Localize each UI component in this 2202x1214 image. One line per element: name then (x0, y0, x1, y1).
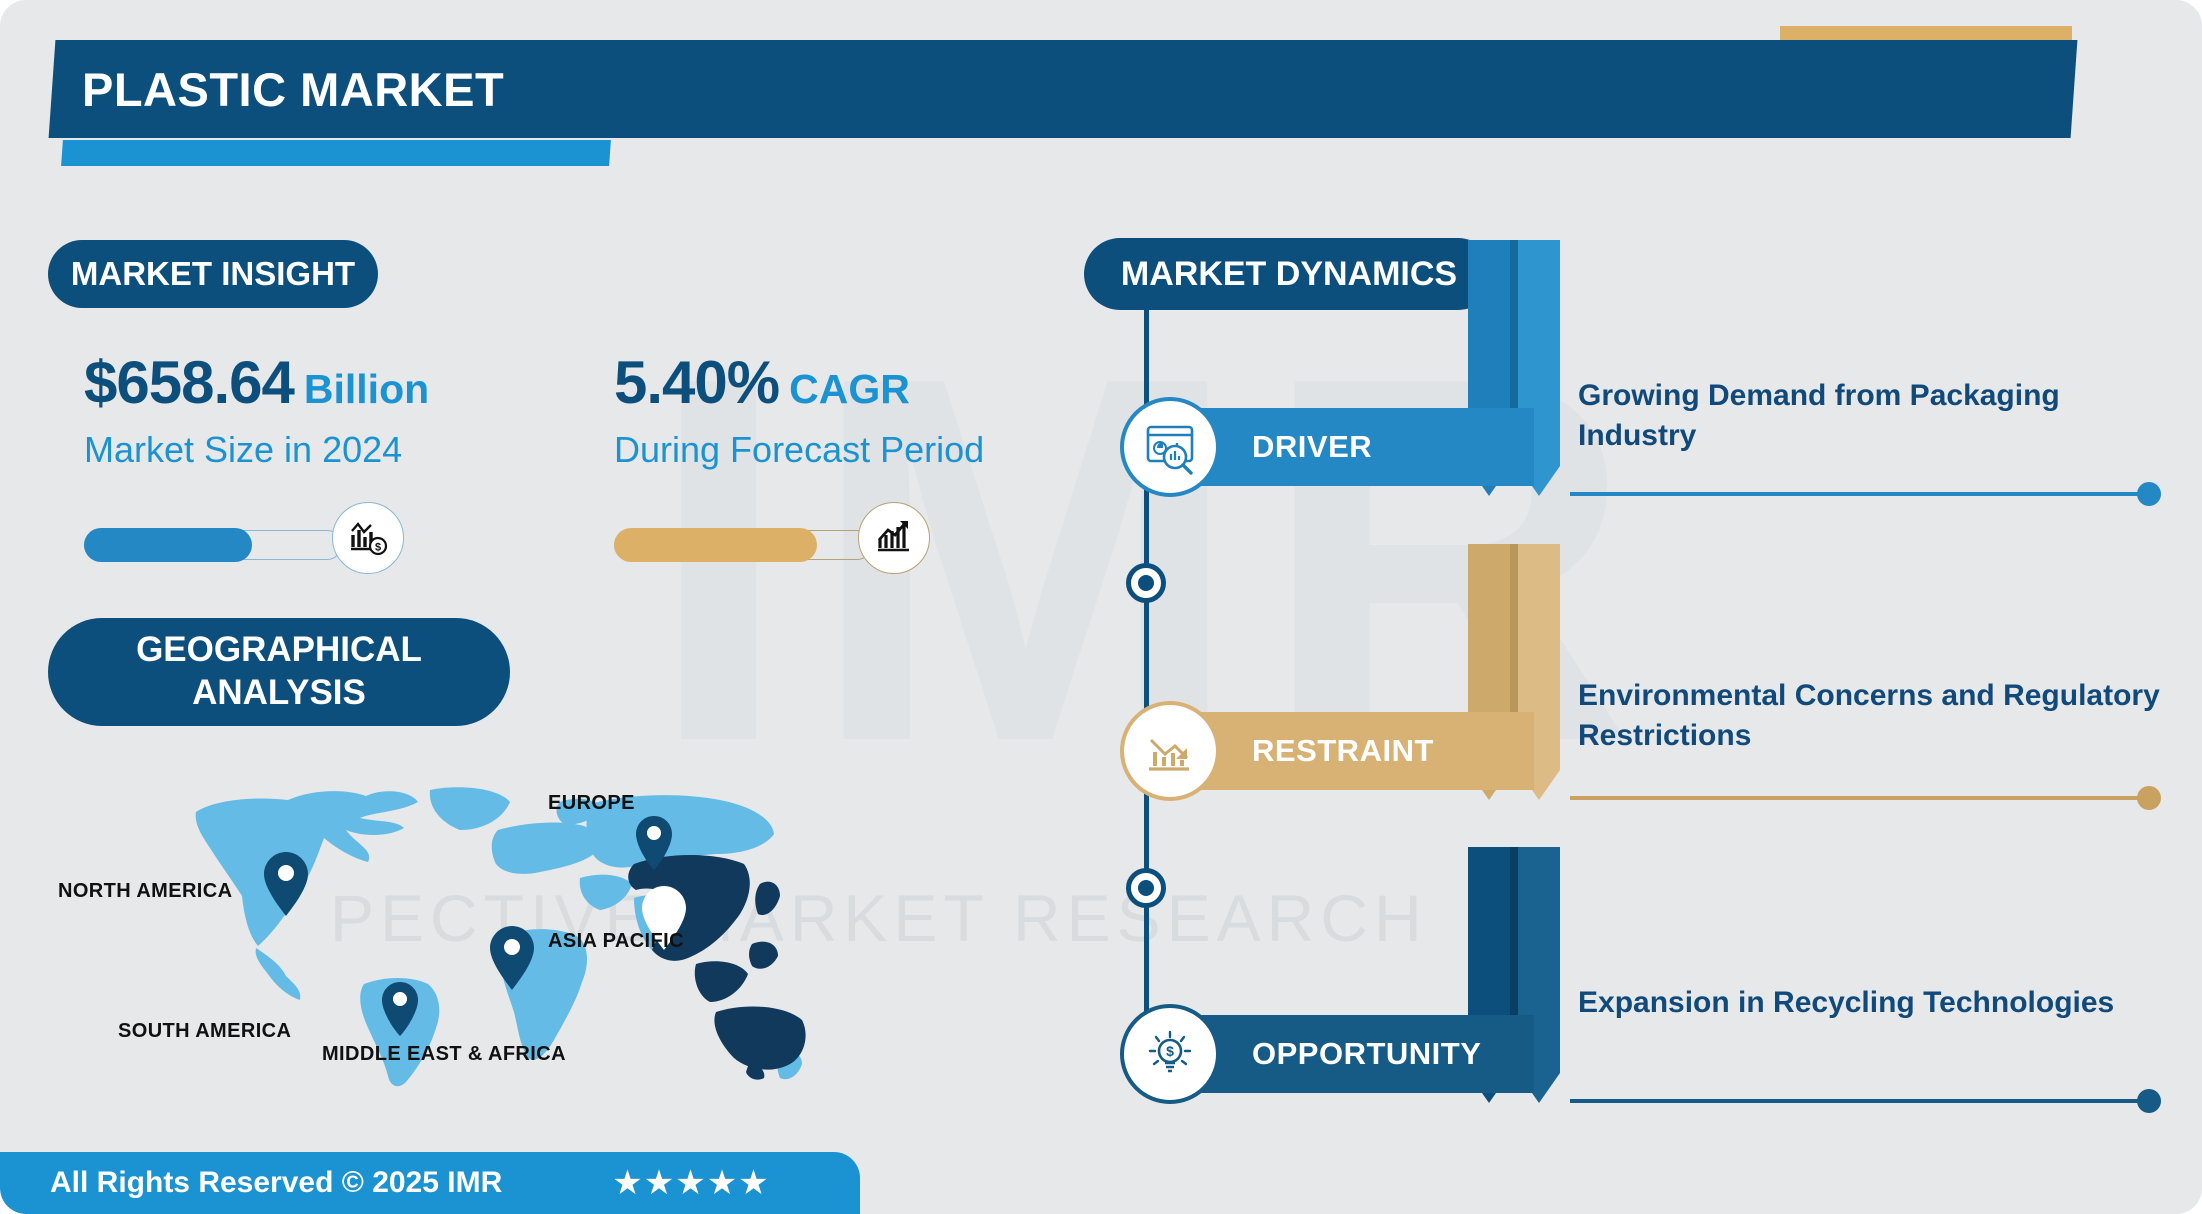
map-label-north-america: NORTH AMERICA (58, 880, 232, 903)
opportunity-connector-line (1570, 1099, 2150, 1103)
progress-fill (84, 528, 252, 562)
metric-market-size: $658.64 Billion Market Size in 2024 (84, 348, 429, 471)
geographical-analysis-pill: GEOGRAPHICAL ANALYSIS (48, 618, 510, 726)
market-size-value: $658.64 (84, 348, 294, 417)
copyright-text: All Rights Reserved © 2025 IMR (50, 1166, 502, 1200)
market-dynamics-pill: MARKET DYNAMICS (1084, 238, 1494, 310)
infographic-canvas: IMR PECTIVE MARKET RESEARCH PLASTIC MARK… (0, 0, 2202, 1214)
footer-bar: All Rights Reserved © 2025 IMR ★★★★★ (0, 1152, 860, 1214)
restraint-text: Environmental Concerns and Regulatory Re… (1578, 676, 2178, 756)
cagr-unit: CAGR (789, 366, 910, 413)
declining-chart-icon (1120, 701, 1220, 801)
svg-text:$: $ (375, 542, 381, 554)
header-underline-accent (61, 140, 611, 166)
dynamics-row-driver: DRIVER Growing Demand from Packaging Ind… (1100, 328, 2200, 578)
driver-connector-line (1570, 492, 2150, 496)
progress-fill (614, 528, 817, 562)
svg-text:$: $ (1166, 1043, 1174, 1059)
restraint-connector-dot (2137, 786, 2161, 810)
market-size-subtitle: Market Size in 2024 (84, 429, 429, 471)
cagr-progress (614, 516, 944, 576)
market-insight-label: MARKET INSIGHT (71, 255, 355, 293)
cagr-value: 5.40% (614, 348, 779, 417)
opportunity-connector-dot (2137, 1089, 2161, 1113)
page-title: PLASTIC MARKET (82, 62, 504, 117)
opportunity-text: Expansion in Recycling Technologies (1578, 983, 2178, 1023)
restraint-connector-line (1570, 796, 2150, 800)
map-label-south-america: SOUTH AMERICA (118, 1020, 291, 1043)
geo-label-line1: GEOGRAPHICAL (136, 629, 422, 672)
geo-label-line2: ANALYSIS (192, 672, 366, 715)
market-insight-pill: MARKET INSIGHT (48, 240, 378, 308)
analytics-search-icon (1120, 397, 1220, 497)
growth-trend-icon (858, 502, 930, 574)
restraint-label: RESTRAINT (1252, 733, 1434, 769)
map-label-europe: EUROPE (548, 792, 635, 815)
opportunity-ribbon: $ OPPORTUNITY (1144, 1015, 1534, 1093)
opportunity-label: OPPORTUNITY (1252, 1036, 1481, 1072)
restraint-ribbon: RESTRAINT (1144, 712, 1534, 790)
market-size-progress: $ (84, 516, 424, 576)
driver-label: DRIVER (1252, 429, 1372, 465)
driver-text: Growing Demand from Packaging Industry (1578, 376, 2178, 456)
metric-cagr: 5.40% CAGR During Forecast Period (614, 348, 984, 471)
driver-connector-dot (2137, 482, 2161, 506)
map-label-asia-pacific: ASIA PACIFIC (548, 930, 684, 953)
lightbulb-dollar-icon: $ (1120, 1004, 1220, 1104)
star-rating-icon: ★★★★★ (612, 1163, 769, 1203)
dynamics-row-opportunity: $ OPPORTUNITY Expansion in Recycling Tec… (1100, 935, 2200, 1185)
dynamics-row-restraint: RESTRAINT Environmental Concerns and Reg… (1100, 632, 2200, 882)
map-label-middle-east-africa: MIDDLE EAST & AFRICA (322, 1043, 566, 1066)
bar-chart-dollar-icon: $ (332, 502, 404, 574)
market-size-unit: Billion (304, 366, 429, 413)
driver-ribbon: DRIVER (1144, 408, 1534, 486)
cagr-subtitle: During Forecast Period (614, 429, 984, 471)
market-dynamics-label: MARKET DYNAMICS (1121, 255, 1457, 294)
